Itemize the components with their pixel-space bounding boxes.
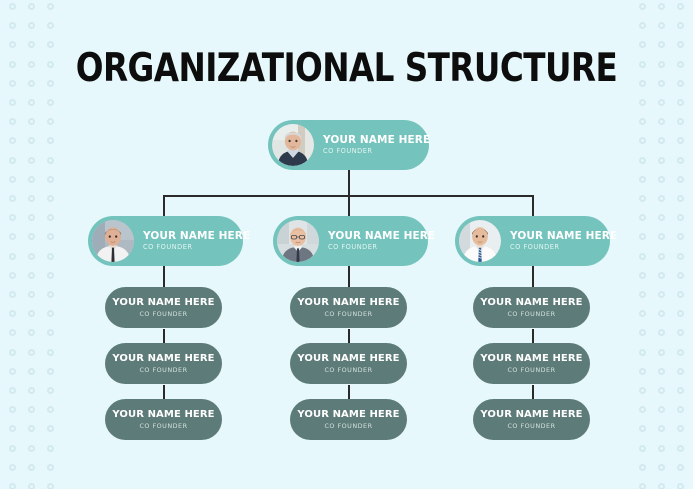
decorative-ring	[28, 3, 35, 10]
decorative-ring	[9, 387, 16, 394]
org-node-name: YOUR NAME HERE	[297, 297, 399, 308]
org-node-role: CO FOUNDER	[139, 422, 187, 430]
decorative-ring	[677, 291, 684, 298]
decorative-ring	[639, 368, 646, 375]
decorative-ring	[47, 464, 54, 471]
decorative-ring	[47, 329, 54, 336]
org-node-name: YOUR NAME HERE	[480, 409, 582, 420]
connector-col3-a	[532, 266, 534, 288]
decorative-ring	[639, 291, 646, 298]
decorative-ring	[28, 329, 35, 336]
decorative-ring	[28, 99, 35, 106]
decorative-ring	[677, 368, 684, 375]
decorative-ring	[639, 157, 646, 164]
org-node-report-1-3[interactable]: YOUR NAME HERE CO FOUNDER	[105, 399, 222, 440]
page-title: ORGANIZATIONAL STRUCTURE	[24, 46, 668, 91]
org-node-name: YOUR NAME HERE	[323, 135, 430, 146]
decorative-ring	[639, 22, 646, 29]
decorative-ring	[28, 214, 35, 221]
decorative-ring	[658, 464, 665, 471]
org-node-text-lead-2: YOUR NAME HERE CO FOUNDER	[328, 231, 435, 251]
org-node-role: CO FOUNDER	[323, 148, 430, 155]
decorative-ring	[9, 99, 16, 106]
avatar-lead-2	[277, 220, 319, 262]
decorative-ring	[677, 61, 684, 68]
decorative-ring	[677, 387, 684, 394]
decorative-ring	[658, 157, 665, 164]
decorative-ring	[9, 368, 16, 375]
decorative-ring	[639, 195, 646, 202]
decorative-ring	[47, 387, 54, 394]
decorative-ring	[658, 445, 665, 452]
connector-col1-a	[163, 266, 165, 288]
decorative-ring	[639, 445, 646, 452]
decorative-ring	[47, 157, 54, 164]
decorative-ring	[9, 272, 16, 279]
decorative-ring	[28, 137, 35, 144]
decorative-ring	[677, 214, 684, 221]
decorative-ring	[47, 349, 54, 356]
org-node-role: CO FOUNDER	[139, 366, 187, 374]
org-node-report-1-2[interactable]: YOUR NAME HERE CO FOUNDER	[105, 343, 222, 384]
decorative-ring	[47, 253, 54, 260]
decorative-ring	[28, 291, 35, 298]
decorative-ring	[639, 137, 646, 144]
org-node-name: YOUR NAME HERE	[510, 231, 617, 242]
decorative-ring	[639, 214, 646, 221]
decorative-ring	[28, 118, 35, 125]
avatar-root	[272, 124, 314, 166]
decorative-ring	[28, 406, 35, 413]
decorative-ring	[677, 406, 684, 413]
org-node-role: CO FOUNDER	[507, 310, 555, 318]
decorative-ring	[47, 195, 54, 202]
decorative-ring	[28, 387, 35, 394]
decorative-ring	[47, 99, 54, 106]
org-node-report-3-2[interactable]: YOUR NAME HERE CO FOUNDER	[473, 343, 590, 384]
decorative-ring	[677, 233, 684, 240]
decorative-ring	[658, 214, 665, 221]
decorative-ring	[47, 22, 54, 29]
decorative-ring	[47, 3, 54, 10]
org-node-role: CO FOUNDER	[324, 422, 372, 430]
decorative-ring	[639, 99, 646, 106]
decorative-ring	[47, 310, 54, 317]
decorative-ring	[9, 41, 16, 48]
decorative-ring	[28, 233, 35, 240]
decorative-ring	[658, 176, 665, 183]
decorative-ring	[658, 349, 665, 356]
decorative-ring	[47, 176, 54, 183]
decorative-ring	[47, 445, 54, 452]
decorative-ring	[28, 349, 35, 356]
decorative-ring	[677, 157, 684, 164]
decorative-ring	[639, 329, 646, 336]
org-node-role: CO FOUNDER	[324, 366, 372, 374]
decorative-ring	[658, 3, 665, 10]
decorative-ring	[47, 214, 54, 221]
decorative-ring	[28, 22, 35, 29]
decorative-ring	[9, 483, 16, 489]
decorative-ring	[9, 80, 16, 87]
decorative-ring	[658, 329, 665, 336]
org-node-lead-1[interactable]: YOUR NAME HERE CO FOUNDER	[88, 216, 243, 266]
decorative-ring	[658, 99, 665, 106]
decorative-ring	[9, 425, 16, 432]
decorative-ring	[658, 233, 665, 240]
decorative-ring	[677, 425, 684, 432]
decorative-ring	[677, 349, 684, 356]
decorative-ring	[677, 22, 684, 29]
decorative-ring	[9, 3, 16, 10]
decorative-ring	[28, 176, 35, 183]
connector-branch-1	[163, 195, 165, 216]
org-node-name: YOUR NAME HERE	[143, 231, 250, 242]
decorative-ring	[658, 310, 665, 317]
decorative-ring	[9, 137, 16, 144]
decorative-ring	[639, 310, 646, 317]
decorative-ring	[47, 233, 54, 240]
org-node-report-2-2[interactable]: YOUR NAME HERE CO FOUNDER	[290, 343, 407, 384]
decorative-ring	[658, 195, 665, 202]
decorative-ring	[639, 483, 646, 489]
decorative-ring	[639, 233, 646, 240]
decorative-ring	[639, 253, 646, 260]
org-chart-canvas: ORGANIZATIONAL STRUCTURE	[0, 0, 693, 489]
org-node-name: YOUR NAME HERE	[328, 231, 435, 242]
decorative-ring	[677, 272, 684, 279]
decorative-ring	[28, 195, 35, 202]
decorative-ring	[28, 310, 35, 317]
org-node-lead-2[interactable]: YOUR NAME HERE CO FOUNDER	[273, 216, 428, 266]
decorative-ring	[658, 425, 665, 432]
decorative-ring	[9, 157, 16, 164]
decorative-ring	[28, 272, 35, 279]
decorative-ring	[658, 406, 665, 413]
decorative-ring	[677, 329, 684, 336]
decorative-ring	[9, 310, 16, 317]
org-node-name: YOUR NAME HERE	[112, 297, 214, 308]
decorative-ring	[639, 387, 646, 394]
org-node-report-2-1[interactable]: YOUR NAME HERE CO FOUNDER	[290, 287, 407, 328]
decorative-ring	[677, 118, 684, 125]
decorative-ring	[639, 272, 646, 279]
decorative-ring	[658, 483, 665, 489]
org-node-name: YOUR NAME HERE	[297, 409, 399, 420]
decorative-ring	[9, 176, 16, 183]
decorative-ring	[28, 253, 35, 260]
org-node-name: YOUR NAME HERE	[480, 297, 582, 308]
decorative-ring	[658, 137, 665, 144]
decorative-ring	[9, 406, 16, 413]
org-node-text-root: YOUR NAME HERE CO FOUNDER	[323, 135, 430, 155]
decorative-ring	[9, 118, 16, 125]
org-node-role: CO FOUNDER	[507, 366, 555, 374]
decorative-ring	[47, 272, 54, 279]
decorative-ring	[658, 272, 665, 279]
decorative-ring	[677, 310, 684, 317]
org-node-role: CO FOUNDER	[143, 244, 250, 251]
connector-branch-3	[532, 195, 534, 216]
org-node-report-3-1[interactable]: YOUR NAME HERE CO FOUNDER	[473, 287, 590, 328]
org-node-report-2-3[interactable]: YOUR NAME HERE CO FOUNDER	[290, 399, 407, 440]
decorative-ring	[9, 214, 16, 221]
decorative-ring	[9, 233, 16, 240]
decorative-ring	[639, 425, 646, 432]
decorative-ring	[9, 61, 16, 68]
decorative-ring	[677, 483, 684, 489]
decorative-ring	[9, 445, 16, 452]
decorative-ring	[639, 349, 646, 356]
decorative-ring	[677, 176, 684, 183]
decorative-ring	[677, 41, 684, 48]
decorative-ring	[28, 483, 35, 489]
connector-branch-2	[348, 195, 350, 216]
connector-col2-a	[348, 266, 350, 288]
decorative-ring	[658, 253, 665, 260]
org-node-name: YOUR NAME HERE	[112, 409, 214, 420]
decorative-ring	[47, 368, 54, 375]
org-node-name: YOUR NAME HERE	[297, 353, 399, 364]
decorative-ring	[28, 368, 35, 375]
org-node-role: CO FOUNDER	[510, 244, 617, 251]
decorative-ring	[658, 291, 665, 298]
decorative-ring	[658, 118, 665, 125]
decorative-ring	[9, 291, 16, 298]
decorative-ring	[28, 464, 35, 471]
avatar-lead-3	[459, 220, 501, 262]
decorative-ring	[677, 80, 684, 87]
decorative-ring	[9, 329, 16, 336]
decorative-ring	[9, 22, 16, 29]
decorative-ring	[639, 176, 646, 183]
decorative-ring	[9, 349, 16, 356]
decorative-ring	[639, 464, 646, 471]
org-node-role: CO FOUNDER	[507, 422, 555, 430]
decorative-ring	[47, 118, 54, 125]
org-node-lead-3[interactable]: YOUR NAME HERE CO FOUNDER	[455, 216, 610, 266]
decorative-ring	[47, 137, 54, 144]
org-node-report-1-1[interactable]: YOUR NAME HERE CO FOUNDER	[105, 287, 222, 328]
decorative-ring	[47, 406, 54, 413]
decorative-ring	[9, 253, 16, 260]
decorative-ring	[658, 368, 665, 375]
decorative-ring	[677, 464, 684, 471]
org-node-name: YOUR NAME HERE	[480, 353, 582, 364]
connector-root-stem	[348, 170, 350, 196]
decorative-ring	[28, 157, 35, 164]
org-node-text-lead-3: YOUR NAME HERE CO FOUNDER	[510, 231, 617, 251]
decorative-ring	[47, 291, 54, 298]
decorative-ring	[9, 464, 16, 471]
org-node-text-lead-1: YOUR NAME HERE CO FOUNDER	[143, 231, 250, 251]
org-node-role: CO FOUNDER	[139, 310, 187, 318]
decorative-ring	[658, 22, 665, 29]
decorative-ring	[28, 425, 35, 432]
avatar-lead-1	[92, 220, 134, 262]
decorative-ring	[9, 195, 16, 202]
decorative-ring	[677, 137, 684, 144]
decorative-ring	[639, 406, 646, 413]
org-node-root[interactable]: YOUR NAME HERE CO FOUNDER	[268, 120, 429, 170]
decorative-ring	[677, 445, 684, 452]
decorative-ring	[677, 195, 684, 202]
decorative-ring	[47, 425, 54, 432]
decorative-ring	[28, 445, 35, 452]
decorative-ring	[639, 3, 646, 10]
decorative-ring	[47, 483, 54, 489]
org-node-report-3-3[interactable]: YOUR NAME HERE CO FOUNDER	[473, 399, 590, 440]
org-node-name: YOUR NAME HERE	[112, 353, 214, 364]
decorative-ring	[677, 99, 684, 106]
decorative-ring	[677, 253, 684, 260]
org-node-role: CO FOUNDER	[328, 244, 435, 251]
decorative-ring	[658, 387, 665, 394]
org-node-role: CO FOUNDER	[324, 310, 372, 318]
decorative-ring	[677, 3, 684, 10]
decorative-ring	[639, 118, 646, 125]
